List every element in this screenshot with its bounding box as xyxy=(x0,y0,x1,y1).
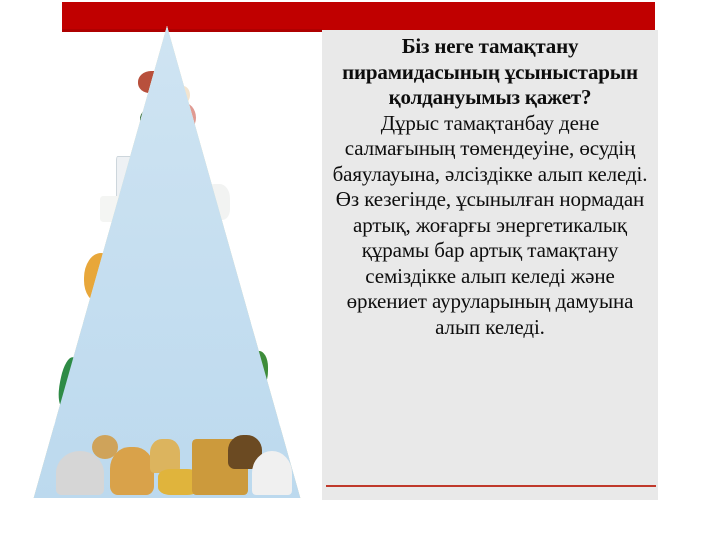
bottom-red-underline xyxy=(326,485,656,487)
text-panel: Біз неге тамақтану пирамидасының ұсыныст… xyxy=(322,30,658,500)
slide-body-text: Дұрыс тамақтанбау дене салмағының төменд… xyxy=(328,111,652,341)
food-bread-slice xyxy=(150,439,180,473)
food-pyramid-image xyxy=(32,26,302,504)
pyramid-tier-grains xyxy=(32,425,302,504)
food-bread-loaf xyxy=(110,447,154,495)
food-rice-pile xyxy=(56,451,104,495)
slide-heading: Біз неге тамақтану пирамидасының ұсыныст… xyxy=(328,34,652,111)
slide: Біз неге тамақтану пирамидасының ұсыныст… xyxy=(0,0,720,540)
food-flour-pile xyxy=(252,451,292,495)
